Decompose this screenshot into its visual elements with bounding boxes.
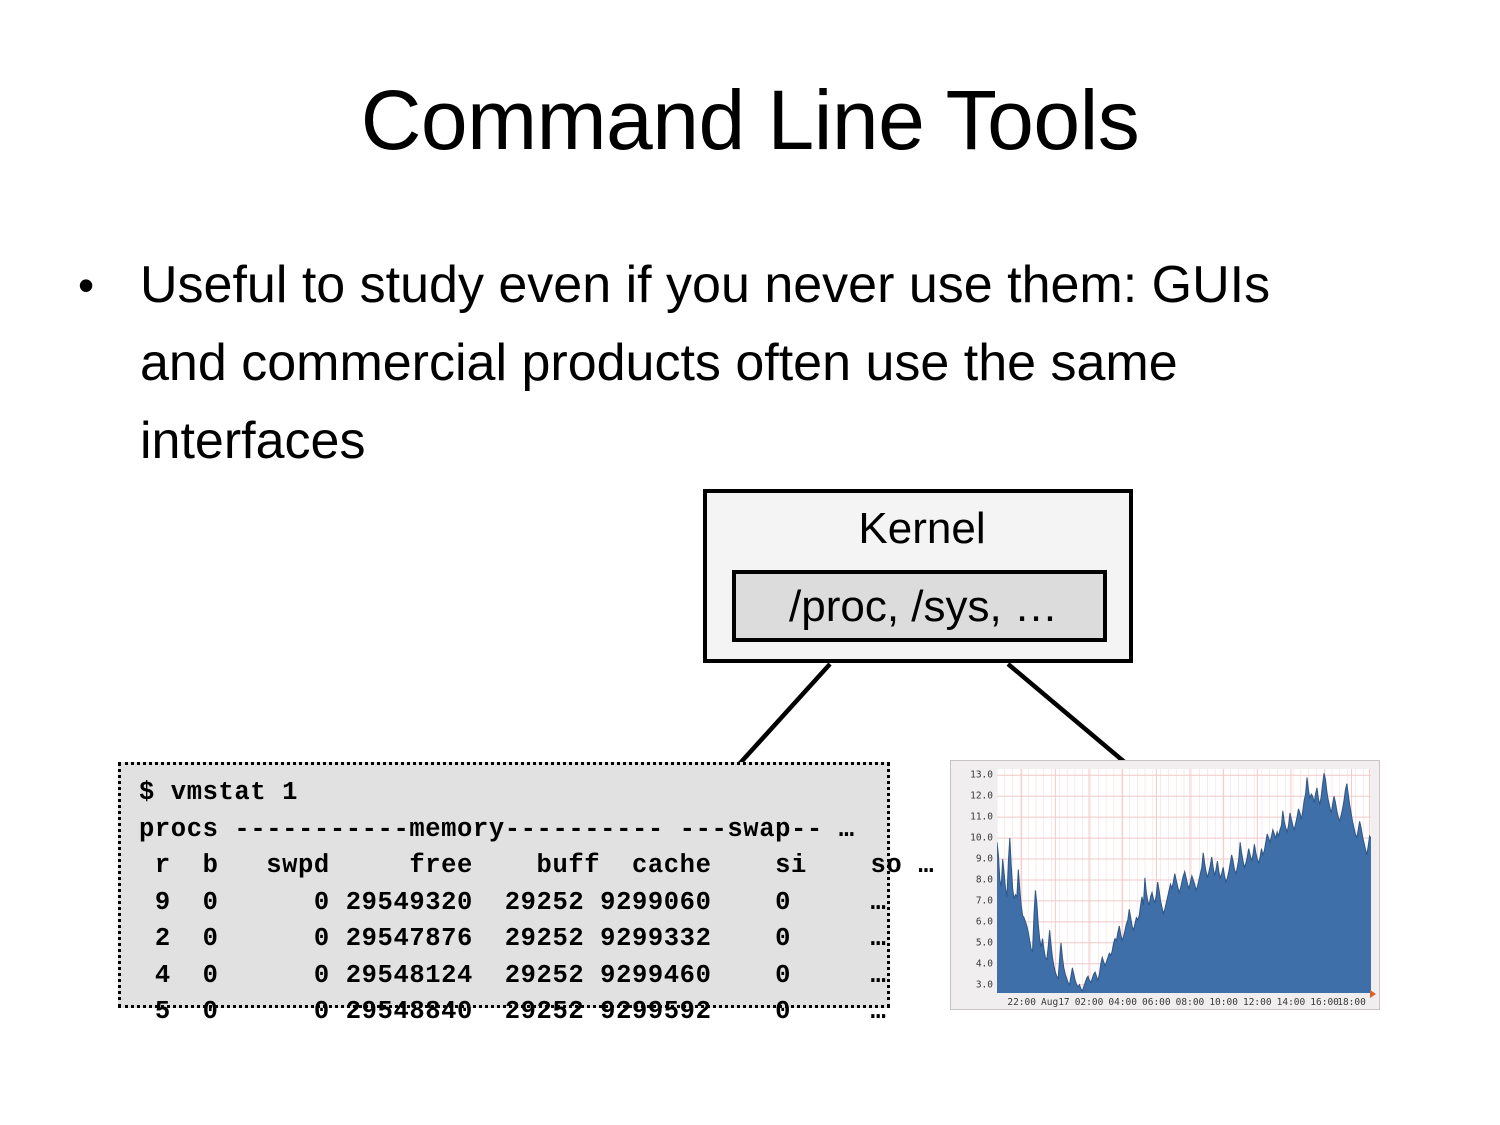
chart-x-tick-label: 18:00 xyxy=(1337,997,1366,1008)
chart-x-tick-label: 14:00 xyxy=(1277,997,1306,1008)
chart-x-tick-label: 06:00 xyxy=(1142,997,1171,1008)
chart-area-series xyxy=(997,769,1371,993)
chart-y-axis: 13.012.011.010.09.08.07.06.05.04.03.0 xyxy=(953,761,993,1011)
chart-y-tick-label: 12.0 xyxy=(970,791,993,802)
terminal-text: $ vmstat 1 procs -----------memory------… xyxy=(139,775,887,1031)
chart-x-tick-label: 08:00 xyxy=(1176,997,1205,1008)
proc-sys-label: /proc, /sys, … xyxy=(736,576,1111,638)
chart-x-tick-label: 10:00 xyxy=(1209,997,1238,1008)
chart-y-tick-label: 7.0 xyxy=(976,895,993,906)
chart-x-tick-label: Aug17 xyxy=(1041,997,1070,1008)
chart-y-tick-label: 11.0 xyxy=(970,812,993,823)
proc-sys-box: /proc, /sys, … xyxy=(732,570,1107,642)
list-item: • Useful to study even if you never use … xyxy=(78,246,1308,480)
chart-plot-area xyxy=(997,769,1371,993)
chart-y-tick-label: 10.0 xyxy=(970,833,993,844)
body-bullet-list: • Useful to study even if you never use … xyxy=(78,246,1308,480)
kernel-box: Kernel /proc, /sys, … xyxy=(703,489,1133,663)
chart-y-tick-label: 8.0 xyxy=(976,874,993,885)
chart-inner: 13.012.011.010.09.08.07.06.05.04.03.0 22… xyxy=(951,761,1379,1009)
bullet-text: Useful to study even if you never use th… xyxy=(140,246,1308,480)
chart-x-tick-label: 02:00 xyxy=(1075,997,1104,1008)
chart-y-tick-label: 9.0 xyxy=(976,854,993,865)
chart-panel: 13.012.011.010.09.08.07.06.05.04.03.0 22… xyxy=(950,760,1380,1010)
page-title: Command Line Tools xyxy=(0,78,1500,162)
chart-y-tick-label: 3.0 xyxy=(976,979,993,990)
chart-x-axis: 22:00Aug1702:0004:0006:0008:0010:0012:00… xyxy=(997,995,1371,1011)
terminal-output-panel: $ vmstat 1 procs -----------memory------… xyxy=(118,762,890,1008)
chart-x-tick-label: 04:00 xyxy=(1108,997,1137,1008)
kernel-box-label: Kernel xyxy=(707,501,1137,557)
chart-y-tick-label: 4.0 xyxy=(976,958,993,969)
chart-x-tick-label: 16:00 xyxy=(1310,997,1339,1008)
chart-x-tick-label: 22:00 xyxy=(1007,997,1036,1008)
chart-x-tick-label: 12:00 xyxy=(1243,997,1272,1008)
axis-end-marker-icon xyxy=(1370,990,1376,998)
chart-y-tick-label: 6.0 xyxy=(976,916,993,927)
chart-y-tick-label: 13.0 xyxy=(970,770,993,781)
chart-y-tick-label: 5.0 xyxy=(976,937,993,948)
bullet-point-icon: • xyxy=(78,246,140,324)
